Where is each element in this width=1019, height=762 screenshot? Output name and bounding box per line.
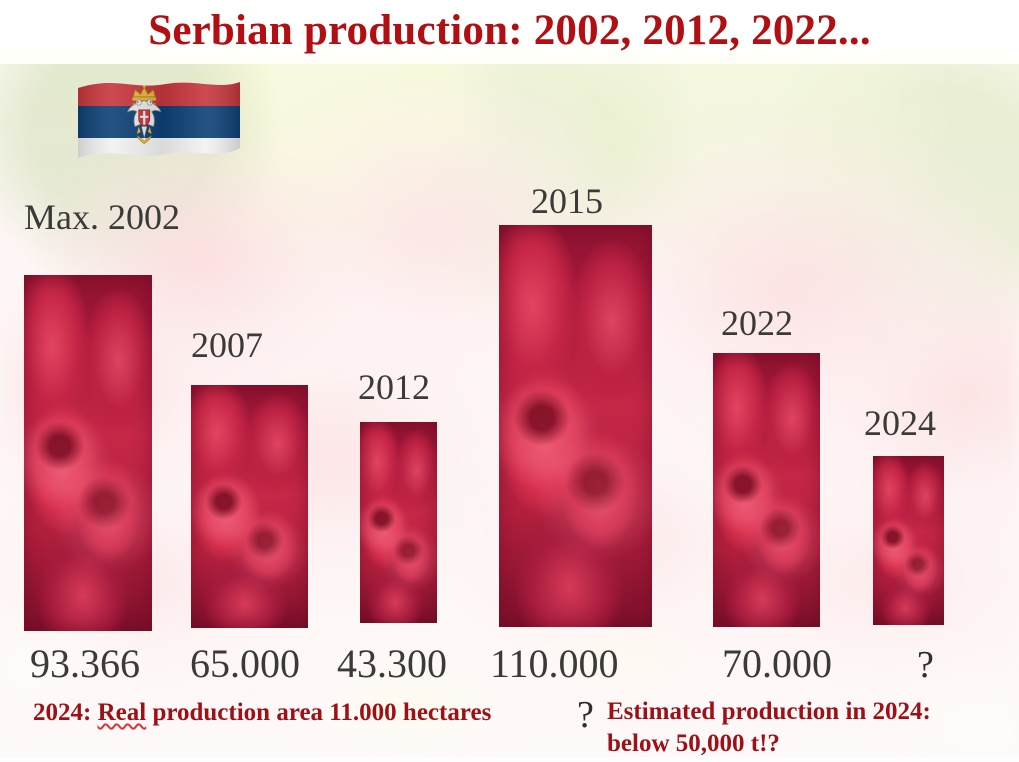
standalone-question-mark: ? — [577, 693, 594, 737]
value-label-2002: 93.366 — [30, 640, 140, 687]
year-label-2002: Max. 2002 — [24, 196, 180, 238]
bar-2015[interactable] — [499, 225, 652, 627]
value-label-2012: 43.300 — [337, 640, 447, 687]
serbian-flag-icon — [76, 74, 242, 170]
value-label-2007: 65.000 — [190, 640, 300, 687]
year-label-2015: 2015 — [531, 180, 603, 222]
year-label-2024: 2024 — [864, 402, 936, 444]
bar-2012[interactable] — [360, 422, 437, 623]
value-label-2024-question-mark: ? — [917, 643, 934, 687]
year-label-2007: 2007 — [191, 324, 263, 366]
note-prefix: 2024: — [33, 699, 98, 726]
year-label-2012: 2012 — [358, 366, 430, 408]
note-rest: production area 11.000 hectares — [146, 699, 491, 726]
value-label-2015: 110.000 — [490, 640, 619, 687]
note-misspelled-word: Real — [98, 699, 147, 726]
bar-2024[interactable] — [873, 456, 944, 625]
value-label-2022: 70.000 — [722, 640, 832, 687]
note-estimated-line1: Estimated production in 2024: — [607, 696, 1019, 728]
bar-2002[interactable] — [24, 275, 152, 631]
page-title: Serbian production: 2002, 2012, 2022... — [0, 6, 1019, 55]
note-estimated-line2: below 50,000 t!? — [607, 728, 1019, 760]
note-production-area: 2024: Real production area 11.000 hectar… — [33, 697, 511, 729]
bottom-strip — [0, 757, 1019, 762]
year-label-2022: 2022 — [721, 302, 793, 344]
note-estimated-production: Estimated production in 2024: below 50,0… — [607, 696, 1019, 760]
bar-2007[interactable] — [191, 385, 308, 628]
slide-canvas: Serbian production: 2002, 2012, 2022... — [0, 0, 1019, 762]
bar-2022[interactable] — [713, 353, 820, 627]
